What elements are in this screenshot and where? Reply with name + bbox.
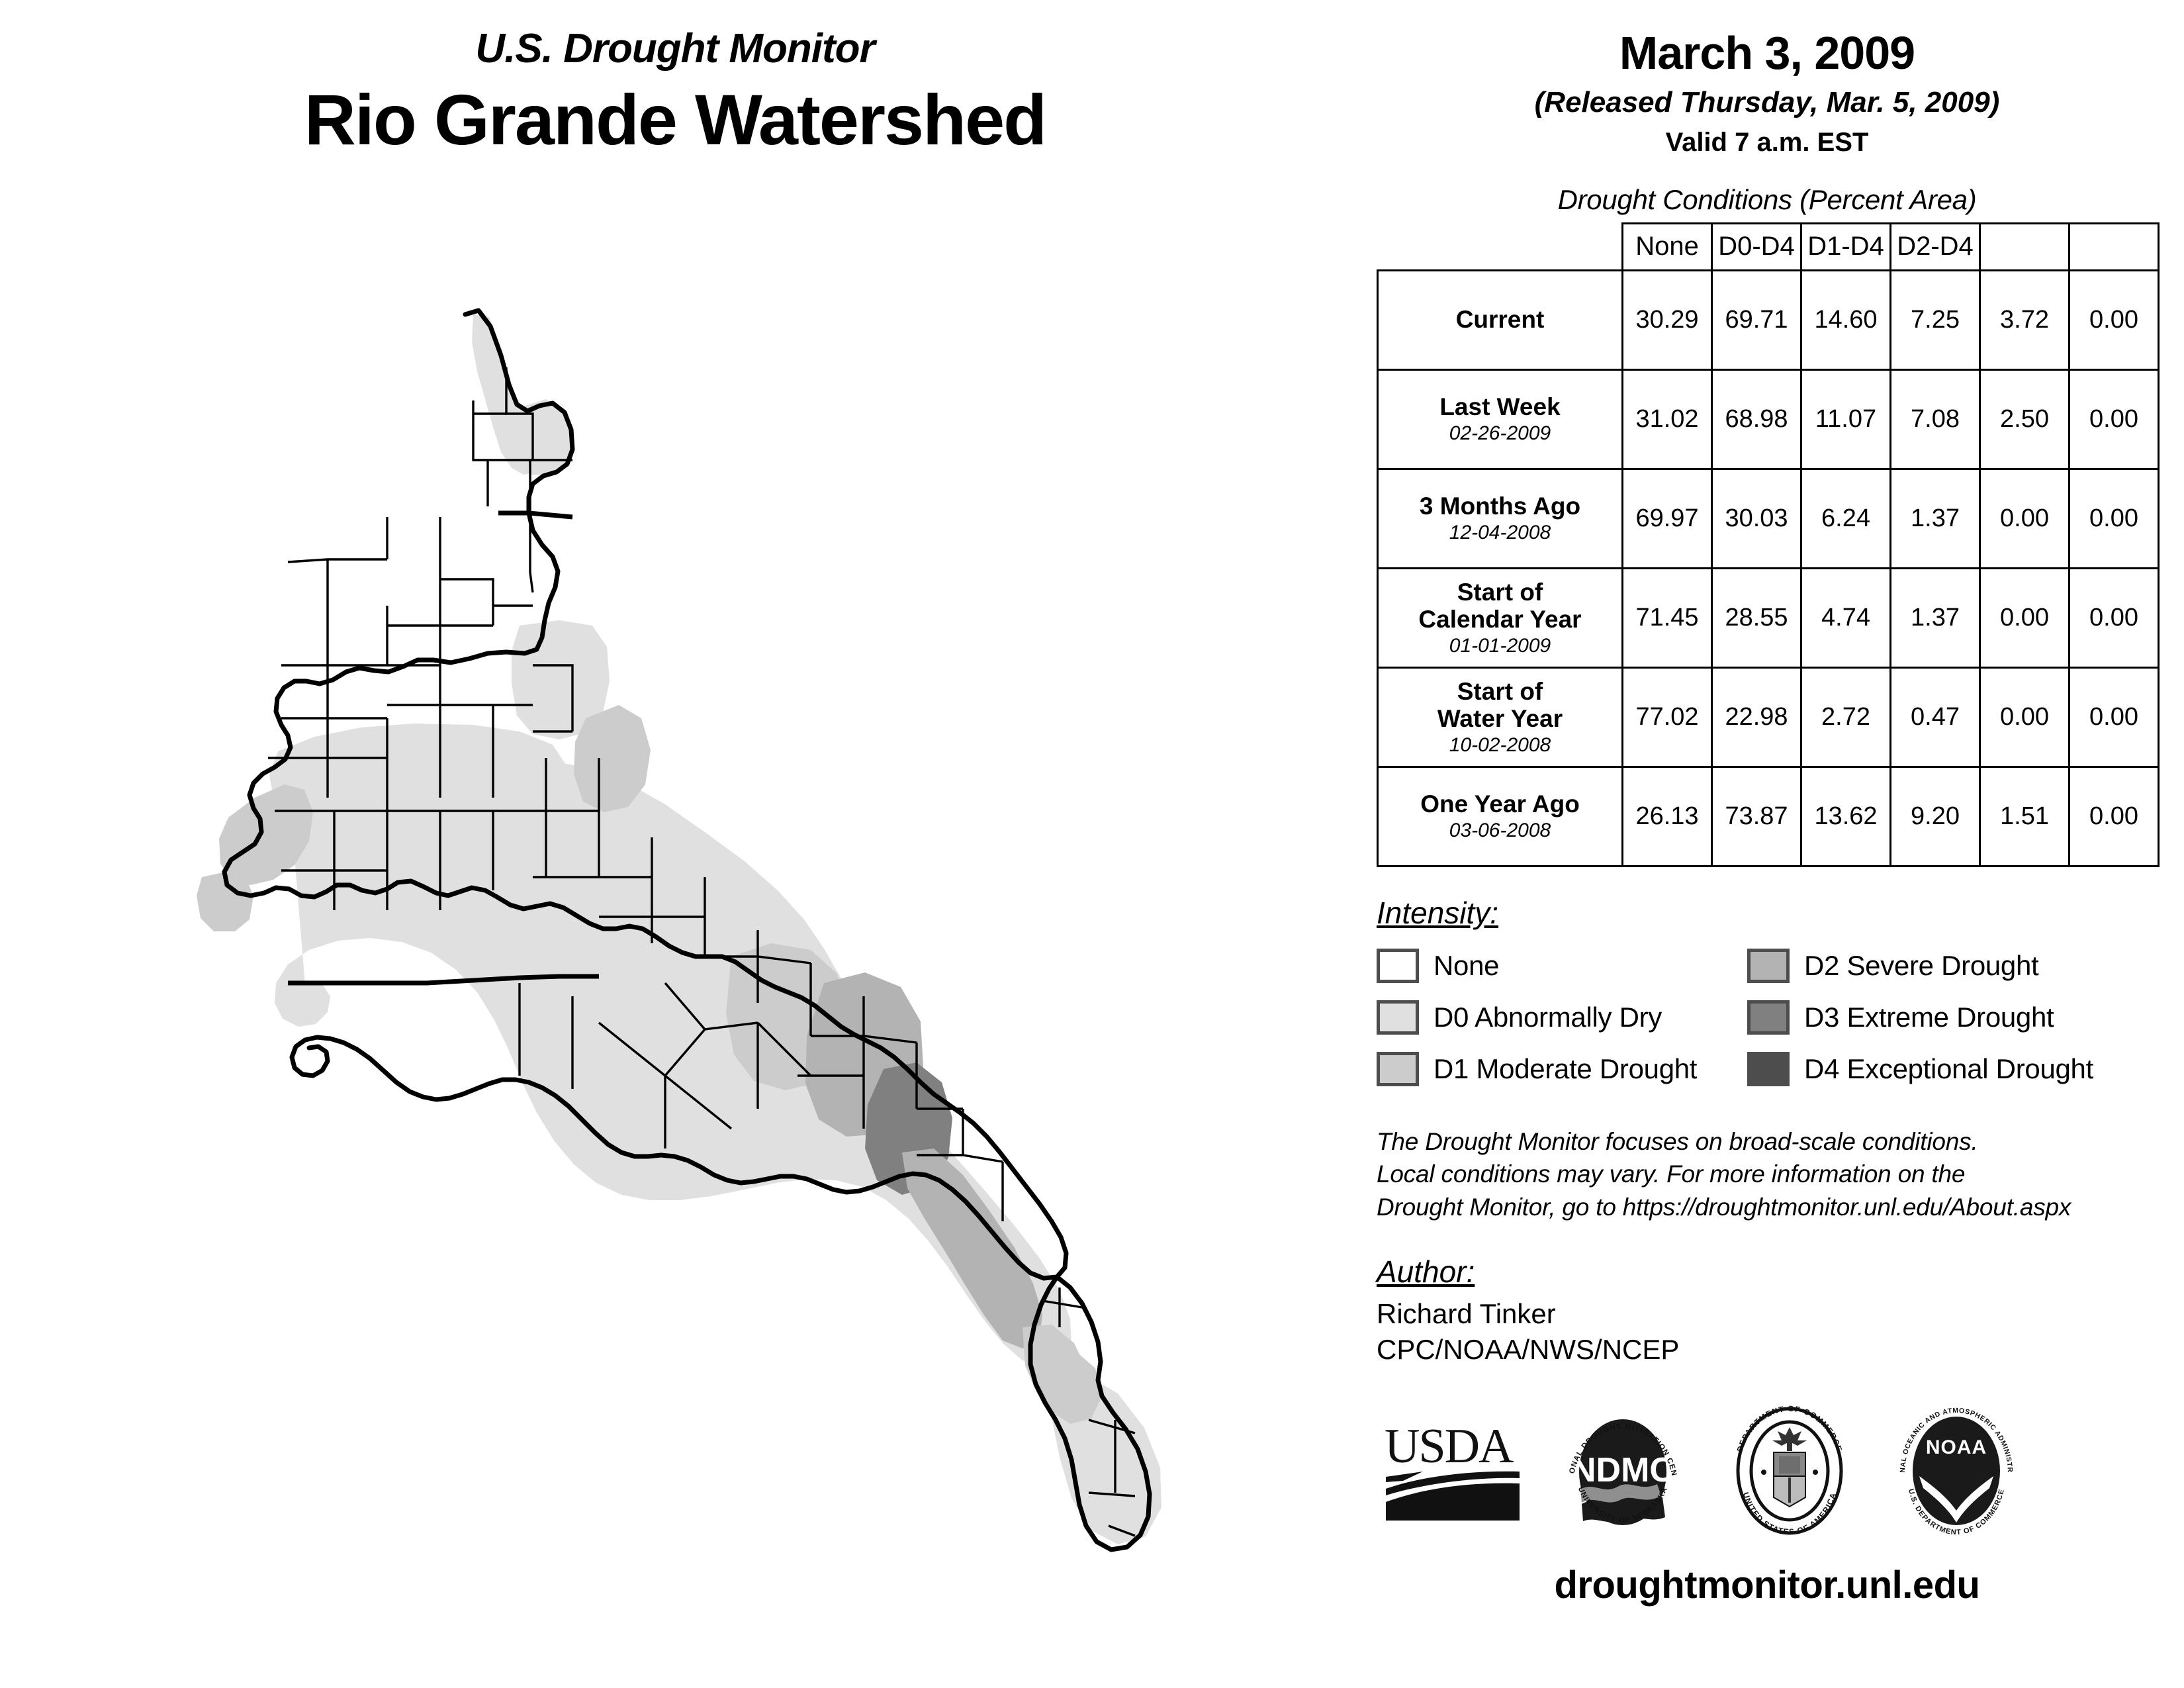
legend-item: D3 Extreme Drought: [1747, 1000, 2118, 1035]
cell-value: 69.71: [1712, 270, 1801, 369]
footer-url[interactable]: droughtmonitor.unl.edu: [1377, 1563, 2158, 1607]
legend-swatch: [1377, 1000, 1419, 1035]
row-label: One Year Ago03-06-2008: [1378, 767, 1623, 866]
legend-label: D2 Severe Drought: [1804, 950, 2038, 982]
legend-swatch: [1747, 1000, 1790, 1035]
row-label: Current: [1378, 270, 1623, 369]
author-details: Richard Tinker CPC/NOAA/NWS/NCEP: [1377, 1296, 2158, 1368]
legend-item: None: [1377, 949, 1747, 983]
author-heading: Author:: [1377, 1254, 1475, 1289]
drought-map[interactable]: [162, 295, 1300, 1592]
disclaimer-line-1: The Drought Monitor focuses on broad-sca…: [1377, 1125, 2158, 1158]
cell-value: 9.20: [1891, 767, 1980, 866]
disclaimer-text: The Drought Monitor focuses on broad-sca…: [1377, 1125, 2158, 1224]
table-row: 3 Months Ago12-04-200869.9730.036.241.37…: [1378, 469, 2159, 568]
author-section: Author: Richard Tinker CPC/NOAA/NWS/NCEP: [1377, 1223, 2158, 1368]
column-header-d4: D4: [2070, 223, 2159, 270]
cell-value: 22.98: [1712, 667, 1801, 767]
column-header-none: None: [1623, 223, 1712, 270]
row-label-name: Start ofWater Year: [1383, 678, 1617, 733]
cell-value: 0.00: [1980, 667, 2070, 767]
partner-logos: USDA NDMC NATIONAL DROUGHT MITIGATION CE…: [1377, 1403, 2158, 1539]
cell-value: 0.00: [2070, 767, 2159, 866]
cell-value: 2.50: [1980, 369, 2070, 469]
table-row: Start ofCalendar Year01-01-200971.4528.5…: [1378, 568, 2159, 667]
author-name: Richard Tinker: [1377, 1296, 2158, 1332]
cell-value: 71.45: [1623, 568, 1712, 667]
cell-value: 30.29: [1623, 270, 1712, 369]
cell-value: 7.25: [1891, 270, 1980, 369]
usdm-subtitle: U.S. Drought Monitor: [79, 26, 1271, 71]
cell-value: 26.13: [1623, 767, 1712, 866]
cell-value: 68.98: [1712, 369, 1801, 469]
row-label-date: 12-04-2008: [1383, 522, 1617, 544]
right-panel: March 3, 2009 (Released Thursday, Mar. 5…: [1377, 26, 2158, 1607]
disclaimer-line-2: Local conditions may vary. For more info…: [1377, 1158, 2158, 1191]
legend-label: D3 Extreme Drought: [1804, 1002, 2054, 1033]
cell-value: 1.37: [1891, 568, 1980, 667]
row-label-date: 10-02-2008: [1383, 734, 1617, 757]
cell-value: 0.47: [1891, 667, 1980, 767]
released-date: (Released Thursday, Mar. 5, 2009): [1377, 84, 2158, 120]
disclaimer-line-3: Drought Monitor, go to https://droughtmo…: [1377, 1191, 2158, 1224]
intensity-section: Intensity: NoneD2 Severe DroughtD0 Abnor…: [1377, 867, 2158, 1095]
cell-value: 28.55: [1712, 568, 1801, 667]
cell-value: 11.07: [1801, 369, 1891, 469]
release-date: March 3, 2009: [1377, 26, 2158, 80]
legend-label: D0 Abnormally Dry: [1433, 1002, 1662, 1033]
cell-value: 0.00: [2070, 270, 2159, 369]
noaa-logo: NOAA NATIONAL OCEANIC AND ATMOSPHERIC AD…: [1890, 1403, 2023, 1539]
drought-map-svg[interactable]: [162, 295, 1300, 1592]
cell-value: 30.03: [1712, 469, 1801, 568]
legend-label: D1 Moderate Drought: [1433, 1053, 1697, 1085]
conditions-table: NoneD0-D4D1-D4D2-D4D3-D4D4Current30.2969…: [1377, 222, 2160, 867]
cell-value: 69.97: [1623, 469, 1712, 568]
legend-swatch: [1747, 949, 1790, 983]
cell-value: 77.02: [1623, 667, 1712, 767]
row-label: Start ofCalendar Year01-01-2009: [1378, 568, 1623, 667]
legend-item: D0 Abnormally Dry: [1377, 1000, 1747, 1035]
row-label-name: 3 Months Ago: [1383, 492, 1617, 520]
row-label-name: Current: [1383, 306, 1617, 333]
cell-value: 3.72: [1980, 270, 2070, 369]
legend-item: D2 Severe Drought: [1747, 949, 2118, 983]
row-label-date: 03-06-2008: [1383, 820, 1617, 842]
table-row: Start ofWater Year10-02-200877.0222.982.…: [1378, 667, 2159, 767]
legend-swatch: [1377, 949, 1419, 983]
valid-time: Valid 7 a.m. EST: [1377, 126, 2158, 159]
column-header-d3-d4: D3-D4: [1980, 223, 2070, 270]
map-art: [197, 314, 1161, 1544]
cell-value: 7.08: [1891, 369, 1980, 469]
row-label-name: One Year Ago: [1383, 790, 1617, 818]
column-header-d0-d4: D0-D4: [1712, 223, 1801, 270]
table-row: Last Week02-26-200931.0268.9811.077.082.…: [1378, 369, 2159, 469]
column-header-d1-d4: D1-D4: [1801, 223, 1891, 270]
doc-eagle-icon: [1772, 1427, 1807, 1451]
cell-value: 31.02: [1623, 369, 1712, 469]
cell-value: 2.72: [1801, 667, 1891, 767]
cell-value: 0.00: [1980, 469, 2070, 568]
table-row: Current30.2969.7114.607.253.720.00: [1378, 270, 2159, 369]
cell-value: 73.87: [1712, 767, 1801, 866]
cell-value: 0.00: [1980, 568, 2070, 667]
cell-value: 1.51: [1980, 767, 2070, 866]
page-title: Rio Grande Watershed: [79, 81, 1271, 160]
cell-value: 0.00: [2070, 369, 2159, 469]
cell-value: 13.62: [1801, 767, 1891, 866]
row-label: Start ofWater Year10-02-2008: [1378, 667, 1623, 767]
cell-value: 0.00: [2070, 568, 2159, 667]
row-label-date: 02-26-2009: [1383, 422, 1617, 445]
cell-value: 6.24: [1801, 469, 1891, 568]
column-header-d2-d4: D2-D4: [1891, 223, 1980, 270]
legend-swatch: [1377, 1052, 1419, 1086]
row-label-name: Last Week: [1383, 393, 1617, 420]
row-label-date: 01-01-2009: [1383, 635, 1617, 657]
usda-logo: USDA: [1383, 1415, 1522, 1527]
page-title-block: U.S. Drought Monitor Rio Grande Watershe…: [79, 26, 1271, 160]
cell-value: 0.00: [2070, 667, 2159, 767]
row-label: 3 Months Ago12-04-2008: [1378, 469, 1623, 568]
ndmc-logo: NDMC NATIONAL DROUGHT MITIGATION CENTER …: [1557, 1403, 1689, 1539]
legend-item: D4 Exceptional Drought: [1747, 1052, 2118, 1086]
doc-logo: DEPARTMENT OF COMMERCE UNITED STATES OF …: [1723, 1403, 1856, 1539]
date-block: March 3, 2009 (Released Thursday, Mar. 5…: [1377, 26, 2158, 159]
table-header-spacer: [1378, 223, 1623, 270]
legend-label: None: [1433, 950, 1499, 982]
legend-swatch: [1747, 1052, 1790, 1086]
table-caption: Drought Conditions (Percent Area): [1377, 184, 2158, 216]
legend-label: D4 Exceptional Drought: [1804, 1053, 2093, 1085]
row-label: Last Week02-26-2009: [1378, 369, 1623, 469]
svg-text:NDMC: NDMC: [1571, 1451, 1674, 1489]
author-affiliation: CPC/NOAA/NWS/NCEP: [1377, 1332, 2158, 1368]
intensity-heading: Intensity:: [1377, 895, 1498, 931]
drought-conditions-table: NoneD0-D4D1-D4D2-D4D3-D4D4Current30.2969…: [1377, 222, 2158, 867]
legend-item: D1 Moderate Drought: [1377, 1052, 1747, 1086]
table-row: One Year Ago03-06-200826.1373.8713.629.2…: [1378, 767, 2159, 866]
svg-text:USDA: USDA: [1385, 1419, 1514, 1474]
cell-value: 1.37: [1891, 469, 1980, 568]
cell-value: 14.60: [1801, 270, 1891, 369]
svg-text:NOAA: NOAA: [1926, 1436, 1987, 1458]
cell-value: 0.00: [2070, 469, 2159, 568]
row-label-name: Start ofCalendar Year: [1383, 579, 1617, 633]
intensity-legend: NoneD2 Severe DroughtD0 Abnormally DryD3…: [1377, 940, 2158, 1095]
cell-value: 4.74: [1801, 568, 1891, 667]
